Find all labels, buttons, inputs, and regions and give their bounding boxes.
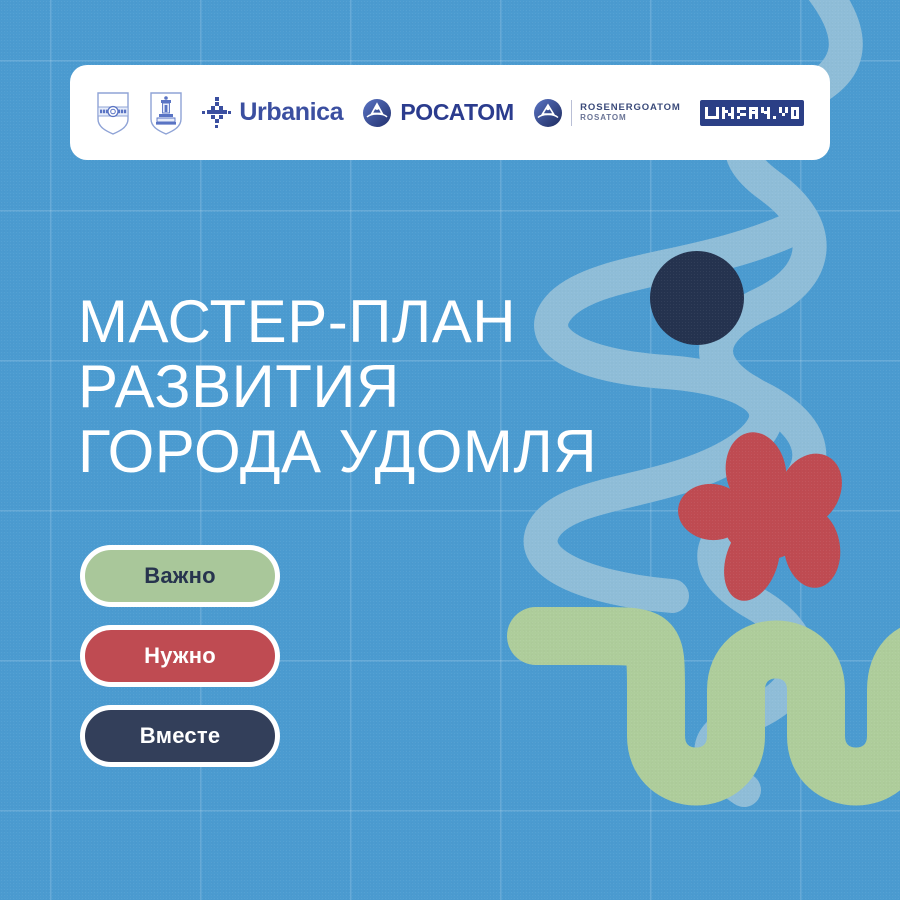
partner-logo-bar: Urbanica РОСАТОМ (70, 65, 830, 160)
udomlya-pixel-wordmark (700, 100, 804, 126)
rosatom-atom-icon (362, 98, 392, 128)
tver-oblast-coat-of-arms-logo (149, 91, 183, 135)
page-title: МАСТЕР-ПЛАН РАЗВИТИЯ ГОРОДА УДОМЛЯ (78, 290, 778, 484)
rosenergoatom-wordmark: ROSENERGOATOM (580, 102, 681, 114)
slogan-pill-group: Важно Нужно Вместе (80, 545, 280, 767)
rosenergoatom-atom-icon (533, 98, 563, 128)
pill-vazhno[interactable]: Важно (80, 545, 280, 607)
urbanica-wordmark: Urbanica (239, 98, 343, 127)
pill-vmeste[interactable]: Вместе (80, 705, 280, 767)
pill-vmeste-label: Вместе (140, 723, 221, 749)
rosenergoatom-logo: ROSENERGOATOM ROSATOM (533, 98, 681, 128)
pill-vazhno-label: Важно (144, 563, 215, 589)
tver-crest-icon (149, 91, 183, 135)
udomlya-coat-of-arms-logo (96, 91, 130, 135)
poster-canvas: Urbanica РОСАТОМ (0, 0, 900, 900)
rosatom-wordmark: РОСАТОМ (400, 99, 514, 126)
pill-nuzhno-label: Нужно (144, 643, 216, 669)
rosenergoatom-subwordmark: ROSATOM (580, 113, 681, 123)
urbanica-compass-icon (202, 97, 232, 129)
rosatom-logo: РОСАТОМ (362, 98, 514, 128)
udomlya-pixel-glyphs-icon (705, 104, 799, 122)
urbanica-logo: Urbanica (202, 97, 343, 129)
udomlya-crest-icon (96, 91, 130, 135)
udomlya-pixel-mark-logo (700, 100, 804, 126)
rosenergoatom-divider (571, 100, 572, 126)
pill-nuzhno[interactable]: Нужно (80, 625, 280, 687)
green-meander-shape (536, 636, 900, 777)
